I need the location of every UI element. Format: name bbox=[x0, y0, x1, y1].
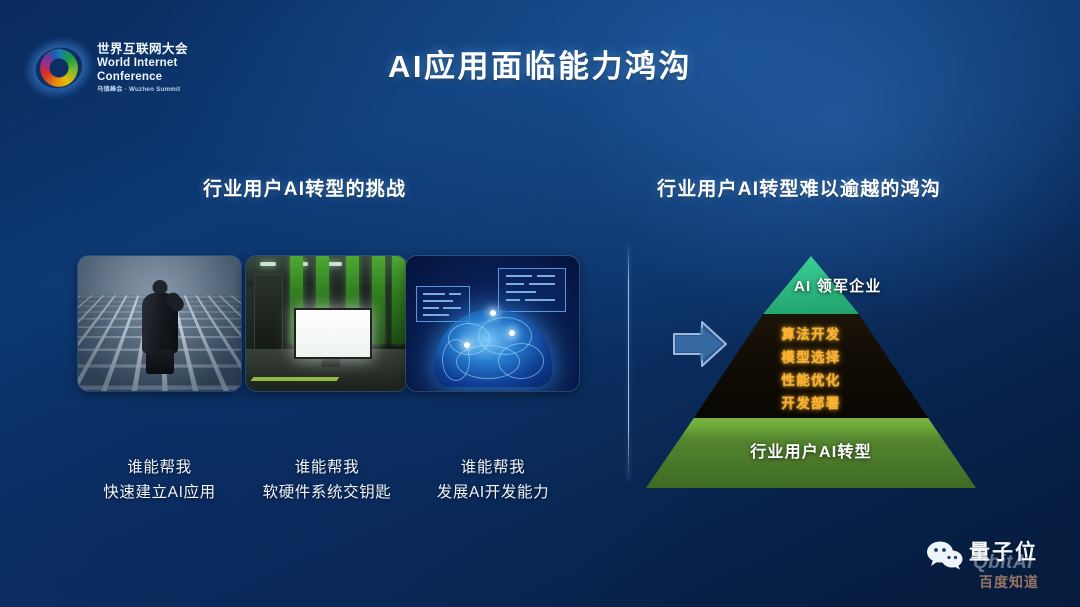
ceiling-lamp-icon bbox=[260, 262, 276, 266]
server-cabinet bbox=[254, 274, 283, 360]
pyramid-middle-item: 模型选择 bbox=[781, 346, 840, 366]
caption-line-2: 发展AI开发能力 bbox=[404, 480, 582, 505]
pyramid-middle-item: 算法开发 bbox=[781, 323, 840, 343]
caption-line-2: 快速建立AI应用 bbox=[78, 480, 241, 505]
brain-node-highlight bbox=[490, 310, 496, 316]
watermark-english: QbitAI bbox=[973, 552, 1033, 574]
data-callout-panel-right bbox=[498, 268, 566, 312]
datacenter-scene bbox=[246, 256, 407, 391]
caption-datacenter: 谁能帮我 软硬件系统交钥匙 bbox=[238, 455, 416, 505]
section-divider bbox=[628, 243, 629, 481]
businessman-silhouette-icon bbox=[138, 280, 182, 372]
pyramid-middle-item: 性能优化 bbox=[781, 369, 840, 389]
wechat-icon bbox=[925, 540, 965, 570]
watermark-source: 百度知道 bbox=[979, 572, 1039, 592]
presentation-slide: 世界互联网大会 World Internet Conference 乌镇峰会 ·… bbox=[0, 0, 1080, 607]
brain-node-highlight bbox=[509, 330, 515, 336]
challenge-image-digital-brain bbox=[406, 256, 579, 391]
caption-line-1: 谁能帮我 bbox=[78, 455, 241, 480]
challenge-image-maze bbox=[78, 256, 241, 391]
challenge-image-datacenter bbox=[246, 256, 407, 391]
brain-node-highlight bbox=[464, 342, 470, 348]
logo-subtitle: 乌镇峰会 · Wuzhen Summit bbox=[97, 87, 188, 93]
caption-line-1: 谁能帮我 bbox=[404, 455, 582, 480]
left-section-heading: 行业用户AI转型的挑战 bbox=[203, 174, 406, 201]
caption-line-1: 谁能帮我 bbox=[238, 455, 416, 480]
pyramid-middle-item-list: 算法开发 模型选择 性能优化 开发部署 bbox=[646, 323, 976, 412]
digital-brain-scene bbox=[406, 256, 579, 391]
watermark: 量子位 QbitAI 百度知道 bbox=[925, 536, 1071, 598]
pyramid-top-label: AI 领军企业 bbox=[794, 275, 882, 296]
maze-scene bbox=[78, 256, 241, 391]
caption-line-2: 软硬件系统交钥匙 bbox=[238, 480, 416, 505]
capability-gap-pyramid: AI 领军企业 算法开发 模型选择 性能优化 开发部署 行业用户AI转型 bbox=[646, 256, 976, 488]
pyramid-middle-item: 开发部署 bbox=[781, 392, 840, 412]
server-rack bbox=[372, 256, 385, 344]
bright-monitor-screen bbox=[294, 308, 372, 359]
pyramid-base-label: 行业用户AI转型 bbox=[646, 438, 976, 462]
slide-title: AI应用面临能力鸿沟 bbox=[0, 41, 1080, 86]
caption-digital-brain: 谁能帮我 发展AI开发能力 bbox=[404, 455, 582, 505]
floor-marking-line bbox=[251, 377, 340, 381]
right-section-heading: 行业用户AI转型难以逾越的鸿沟 bbox=[657, 174, 941, 201]
server-rack bbox=[392, 256, 405, 344]
caption-maze: 谁能帮我 快速建立AI应用 bbox=[78, 455, 241, 505]
